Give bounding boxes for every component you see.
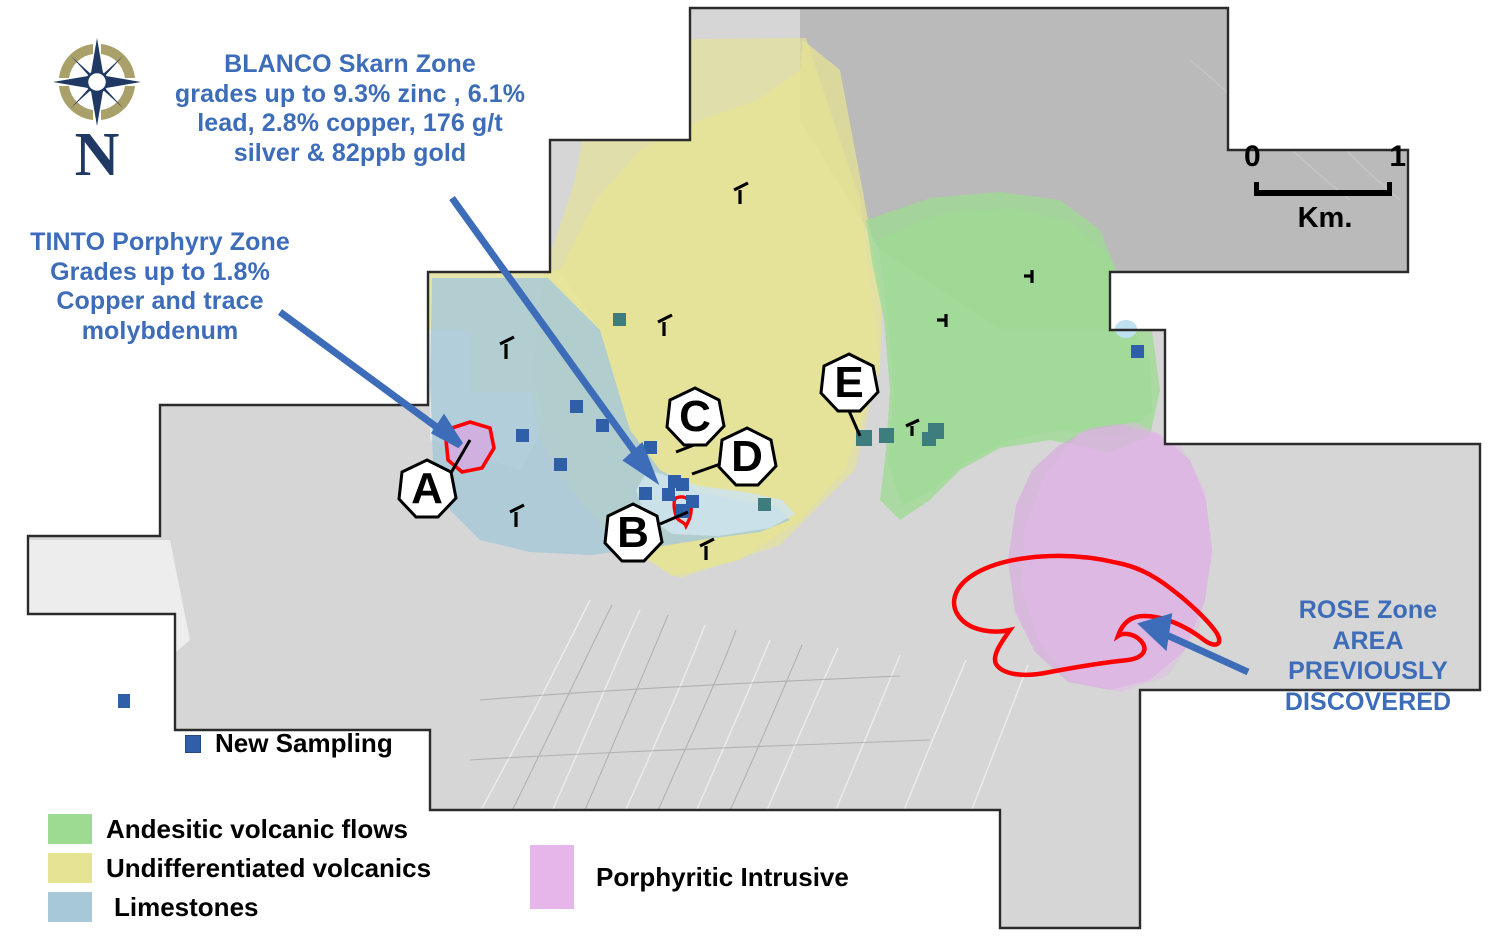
scale-bar-rule (1254, 182, 1392, 196)
annotation-blanco-line-1: BLANCO Skarn Zone (150, 50, 550, 80)
callout-label-e: E (818, 352, 880, 414)
annotation-rose-line-4: DISCOVERED (1248, 687, 1488, 718)
legend-new-sampling: New Sampling (185, 728, 393, 759)
porphyritic-swatch-icon (530, 845, 574, 909)
callout-label-a: A (396, 458, 458, 520)
annotation-rose-line-1: ROSE Zone (1248, 595, 1488, 626)
map-canvas: N 0 1 Km. BLANCO Skarn Zone grades up to… (0, 0, 1500, 948)
annotation-tinto-line-2: Grades up to 1.8% (0, 258, 320, 288)
annotation-blanco-line-3: lead, 2.8% copper, 176 g/t (150, 109, 550, 139)
annotation-rose-line-2: AREA (1248, 626, 1488, 657)
new-sampling-swatch-icon (185, 735, 201, 753)
annotation-rose-line-3: PREVIOUSLY (1248, 656, 1488, 687)
scale-unit-label: Km. (1240, 202, 1410, 235)
callout-label-b: B (602, 502, 664, 564)
scale-max-label: 1 (1389, 140, 1406, 174)
scale-bar: 0 1 Km. (1240, 140, 1410, 250)
andesitic-label: Andesitic volcanic flows (106, 814, 408, 845)
callout-marker-a[interactable]: A (396, 458, 458, 520)
callout-marker-b[interactable]: B (602, 502, 664, 564)
annotation-tinto-porphyry: TINTO Porphyry Zone Grades up to 1.8% Co… (0, 228, 320, 346)
limestones-label: Limestones (106, 892, 259, 923)
porphyritic-label: Porphyritic Intrusive (596, 862, 849, 893)
compass-north-label: N (42, 124, 152, 186)
callout-marker-d[interactable]: D (716, 426, 778, 488)
annotation-blanco-skarn: BLANCO Skarn Zone grades up to 9.3% zinc… (150, 50, 550, 168)
annotation-rose-zone: ROSE Zone AREA PREVIOUSLY DISCOVERED (1248, 595, 1488, 717)
callout-label-d: D (716, 426, 778, 488)
legend-item-porphyritic-intrusive: Porphyritic Intrusive (530, 845, 849, 909)
annotation-blanco-line-2: grades up to 9.3% zinc , 6.1% (150, 80, 550, 110)
legend-item-andesitic: Andesitic volcanic flows (48, 812, 431, 846)
scale-min-label: 0 (1244, 140, 1261, 174)
callout-marker-e[interactable]: E (818, 352, 880, 414)
legend-rock-units: Andesitic volcanic flows Undifferentiate… (48, 812, 431, 929)
compass-rose: N (42, 38, 152, 183)
undifferentiated-label: Undifferentiated volcanics (106, 853, 431, 884)
new-sampling-label: New Sampling (215, 728, 393, 759)
legend-item-undifferentiated: Undifferentiated volcanics (48, 851, 431, 885)
annotation-tinto-line-4: molybdenum (0, 317, 320, 347)
legend-item-limestones: Limestones (48, 890, 431, 924)
annotation-tinto-line-1: TINTO Porphyry Zone (0, 228, 320, 258)
annotation-tinto-line-3: Copper and trace (0, 287, 320, 317)
annotation-blanco-line-4: silver & 82ppb gold (150, 139, 550, 169)
undifferentiated-swatch-icon (48, 853, 92, 883)
limestones-swatch-icon (48, 892, 92, 922)
andesitic-swatch-icon (48, 814, 92, 844)
